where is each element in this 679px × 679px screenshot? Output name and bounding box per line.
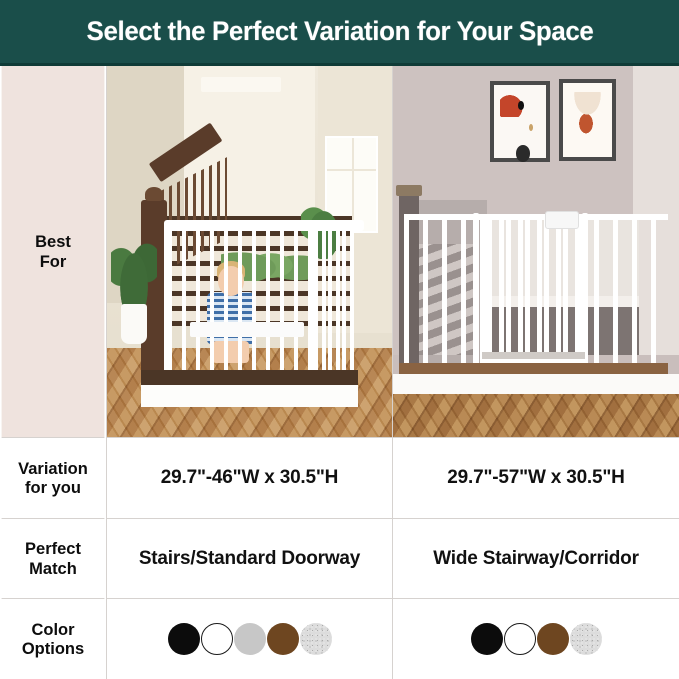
row-label-variation: Variation for you bbox=[2, 437, 105, 518]
color-swatch-row-a bbox=[107, 599, 392, 679]
framed-art-left bbox=[490, 81, 550, 163]
page-title: Select the Perfect Variation for Your Sp… bbox=[86, 16, 593, 47]
safety-gate-top-rail bbox=[164, 220, 364, 231]
product-photo-variation-b bbox=[392, 66, 679, 437]
color-swatch-speckled-gray[interactable] bbox=[570, 623, 602, 655]
row-label-variation-text: Variation for you bbox=[18, 459, 88, 497]
color-options-cell-a bbox=[106, 598, 392, 679]
color-swatch-black[interactable] bbox=[168, 623, 200, 655]
baseboard bbox=[393, 374, 679, 396]
perfect-match-value-a: Stairs/Standard Doorway bbox=[106, 518, 392, 598]
stairs-gate-photo bbox=[107, 66, 392, 437]
color-swatch-black[interactable] bbox=[471, 623, 503, 655]
color-options-cell-b bbox=[392, 598, 679, 679]
variation-value-b: 29.7"-57"W x 30.5"H bbox=[392, 437, 679, 518]
row-label-color-options: Color Options bbox=[2, 598, 105, 679]
product-photo-variation-a bbox=[106, 66, 392, 437]
ceiling-soffit bbox=[201, 77, 281, 92]
gate-lower-bar bbox=[482, 352, 585, 359]
row-label-best-for: Best For bbox=[2, 66, 105, 437]
newel-cap bbox=[396, 185, 422, 196]
gate-post-left bbox=[473, 213, 479, 365]
color-swatch-gray[interactable] bbox=[234, 623, 266, 655]
baseboard bbox=[141, 385, 358, 407]
potted-plant-left bbox=[110, 233, 158, 344]
color-swatch-white[interactable] bbox=[201, 623, 233, 655]
herringbone-floor-overlay bbox=[393, 394, 679, 437]
row-label-perfect-match: Perfect Match bbox=[2, 518, 105, 598]
corridor-gate-photo bbox=[393, 66, 679, 437]
color-swatch-white[interactable] bbox=[504, 623, 536, 655]
comparison-infographic: Select the Perfect Variation for Your Sp… bbox=[0, 0, 679, 679]
row-label-best-for-text: Best For bbox=[35, 232, 71, 270]
color-swatch-row-b bbox=[393, 599, 679, 679]
row-label-perfect-match-text: Perfect Match bbox=[25, 539, 81, 577]
color-swatch-brown[interactable] bbox=[537, 623, 569, 655]
safety-gate-bottom-rail bbox=[190, 322, 304, 337]
safety-gate-extension bbox=[310, 222, 347, 390]
framed-art-right bbox=[559, 79, 616, 161]
perfect-match-value-b: Wide Stairway/Corridor bbox=[392, 518, 679, 598]
comparison-table: Best For bbox=[0, 66, 679, 679]
gate-swing-door bbox=[482, 214, 585, 362]
color-swatch-speckled-gray[interactable] bbox=[300, 623, 332, 655]
gate-latch bbox=[545, 211, 579, 230]
row-label-color-options-text: Color Options bbox=[22, 620, 84, 658]
variation-value-a: 29.7"-46"W x 30.5"H bbox=[106, 437, 392, 518]
header-banner: Select the Perfect Variation for Your Sp… bbox=[0, 0, 679, 66]
color-swatch-brown[interactable] bbox=[267, 623, 299, 655]
